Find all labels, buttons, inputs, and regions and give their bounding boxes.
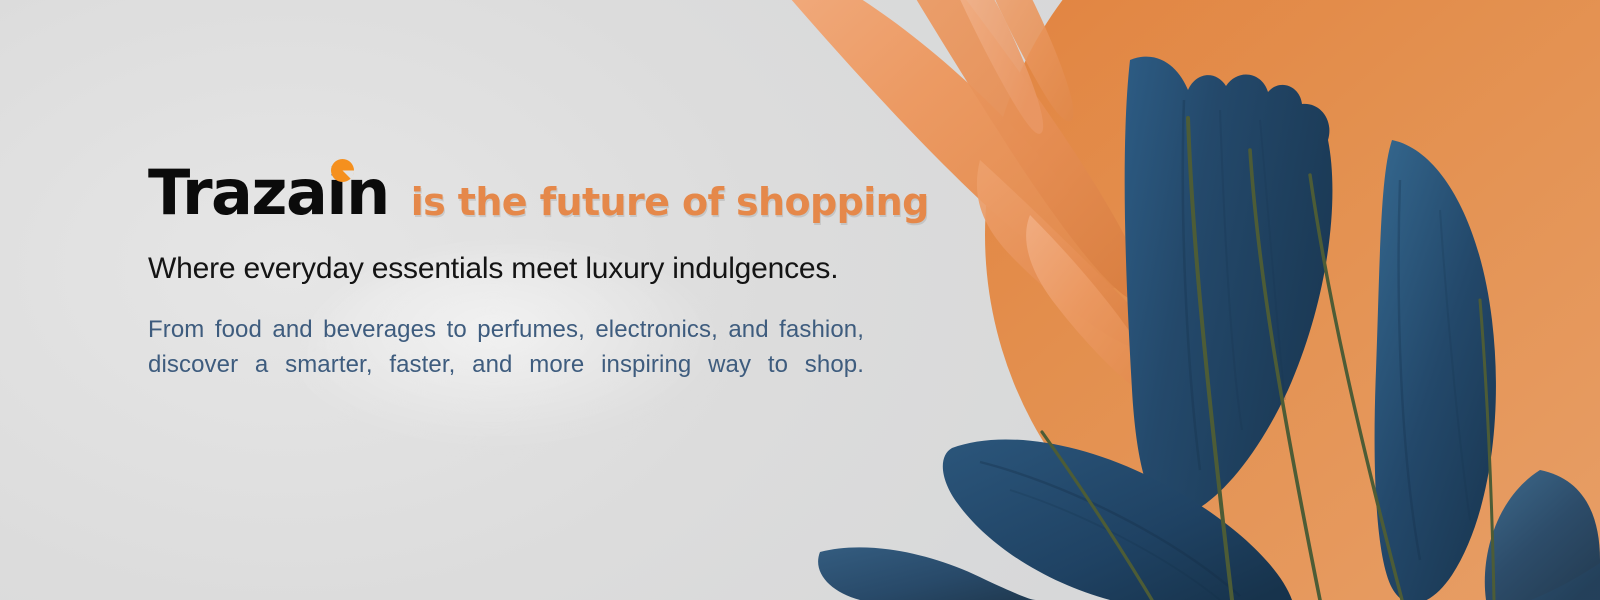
- hero-banner: Trazain is the future of shopping Where …: [0, 0, 1600, 600]
- hero-body-copy: From food and beverages to perfumes, ele…: [148, 312, 864, 417]
- brand-logo[interactable]: Trazain: [148, 162, 389, 224]
- hero-subheadline: Where everyday essentials meet luxury in…: [148, 250, 908, 288]
- hero-content: Trazain is the future of shopping Where …: [148, 152, 908, 417]
- brand-tagline: is the future of shopping: [411, 180, 929, 224]
- orange-bitten-circle-dot-icon: [331, 159, 354, 182]
- brand-row: Trazain is the future of shopping: [148, 152, 908, 224]
- navy-leaf: [818, 547, 1036, 600]
